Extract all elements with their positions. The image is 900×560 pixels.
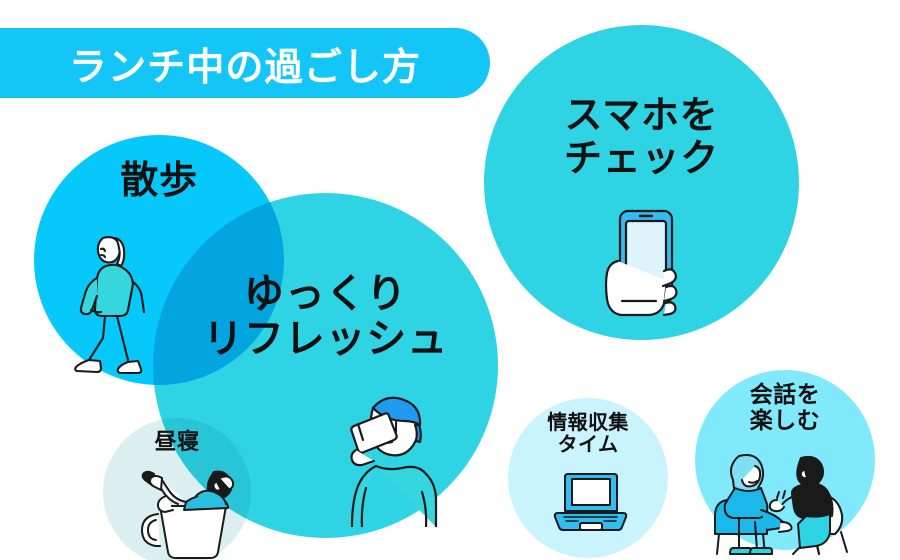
two-people-talking-icon — [705, 452, 865, 556]
person-drinking-can-icon — [318, 382, 453, 527]
walking-person-icon — [57, 222, 172, 377]
page-title: ランチ中の過ごし方 — [0, 28, 490, 98]
infographic-canvas: 散歩 ゆっくり リフレッシュ スマホを チェック 昼寝 情報収集 タイム 会話を… — [0, 0, 900, 560]
hand-holding-smartphone-icon — [592, 205, 702, 340]
person-napping-in-cup-icon — [128, 462, 253, 560]
laptop-icon — [548, 468, 633, 540]
